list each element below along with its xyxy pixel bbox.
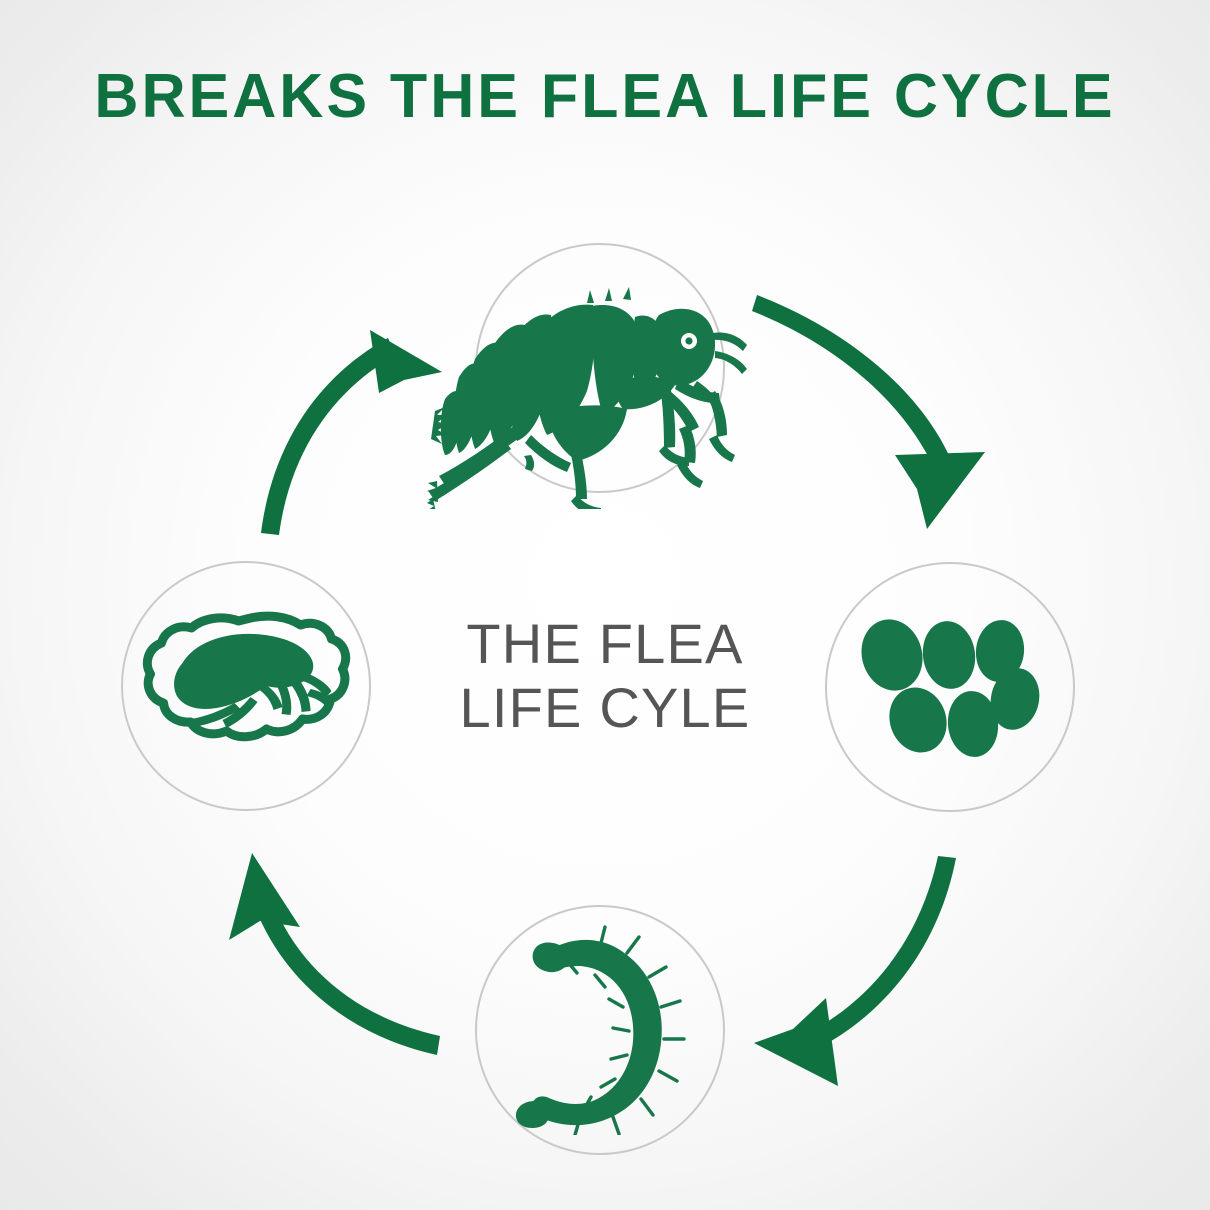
cycle-node-larva[interactable] bbox=[475, 905, 725, 1155]
adult-flea-icon bbox=[427, 259, 757, 509]
center-label-line1: THE FLEA bbox=[355, 612, 855, 676]
arrow-larva-to-pupa-hit[interactable] bbox=[235, 845, 460, 1070]
arrow-eggs-to-larva-hit[interactable] bbox=[760, 850, 985, 1075]
arrow-adult-to-eggs-hit[interactable] bbox=[745, 300, 975, 530]
center-label: THE FLEA LIFE CYLE bbox=[355, 612, 855, 740]
center-label-line2: LIFE CYLE bbox=[355, 676, 855, 740]
cycle-node-adult-flea[interactable] bbox=[475, 243, 725, 493]
arrow-pupa-to-adult-hit[interactable] bbox=[258, 322, 458, 552]
flea-pupa-icon bbox=[139, 611, 354, 761]
cycle-node-pupa[interactable] bbox=[121, 561, 371, 811]
cycle-node-eggs[interactable] bbox=[825, 562, 1075, 812]
flea-larva-icon bbox=[509, 925, 699, 1135]
flea-life-cycle-infographic: BREAKS THE FLEA LIFE CYCLE bbox=[0, 0, 1210, 1210]
page-title: BREAKS THE FLEA LIFE CYCLE bbox=[9, 66, 1201, 128]
flea-eggs-icon bbox=[855, 607, 1045, 767]
